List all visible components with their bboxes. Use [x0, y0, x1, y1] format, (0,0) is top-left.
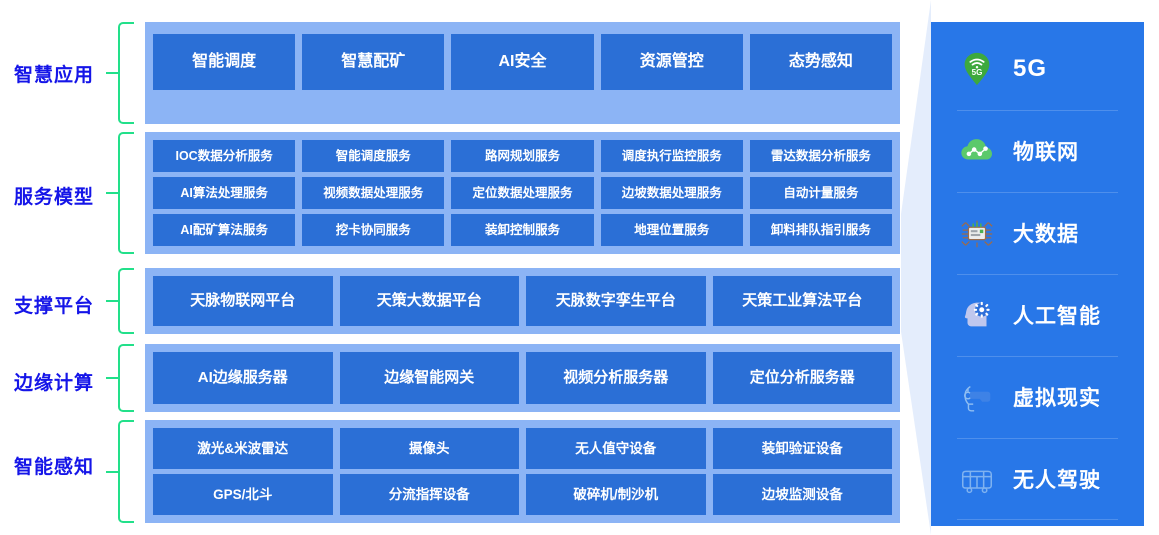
layer-band-edge-computing: AI边缘服务器 边缘智能网关 视频分析服务器 定位分析服务器: [145, 344, 900, 412]
layer-row: IOC数据分析服务 智能调度服务 路网规划服务 调度执行监控服务 雷达数据分析服…: [153, 140, 892, 172]
node-card[interactable]: 分流指挥设备: [340, 474, 520, 515]
node-card[interactable]: 装卸验证设备: [713, 428, 893, 469]
node-card[interactable]: 视频分析服务器: [526, 352, 706, 404]
bracket-tick: [106, 471, 120, 473]
sidebar-item-label: 大数据: [1013, 218, 1079, 248]
node-card[interactable]: AI安全: [451, 34, 593, 90]
node-card[interactable]: 天策工业算法平台: [713, 276, 893, 326]
node-card[interactable]: 雷达数据分析服务: [750, 140, 892, 172]
node-card[interactable]: 天脉数字孪生平台: [526, 276, 706, 326]
bracket-support-platform: [118, 268, 134, 334]
node-card[interactable]: 视频数据处理服务: [302, 177, 444, 209]
node-card[interactable]: 卸料排队指引服务: [750, 214, 892, 246]
bracket-tick: [106, 72, 120, 74]
technology-sidebar: 5G 5G 物联网: [931, 22, 1144, 526]
node-card[interactable]: 定位分析服务器: [713, 352, 893, 404]
layer-row: AI算法处理服务 视频数据处理服务 定位数据处理服务 边坡数据处理服务 自动计量…: [153, 177, 892, 209]
layer-label-edge-computing: 边缘计算: [0, 368, 108, 395]
5g-pin-icon: 5G: [957, 49, 997, 89]
node-card[interactable]: 资源管控: [601, 34, 743, 90]
iot-cloud-icon: [957, 131, 997, 171]
layer-band-support-platform: 天脉物联网平台 天策大数据平台 天脉数字孪生平台 天策工业算法平台: [145, 268, 900, 334]
bracket-tick: [106, 300, 120, 302]
node-card[interactable]: 智能调度服务: [302, 140, 444, 172]
sidebar-item-big-data[interactable]: 大数据: [931, 192, 1144, 274]
sidebar-item-label: 无人驾驶: [1013, 464, 1101, 494]
bracket-edge-computing: [118, 344, 134, 412]
node-card[interactable]: 边缘智能网关: [340, 352, 520, 404]
node-card[interactable]: 智慧配矿: [302, 34, 444, 90]
node-card[interactable]: 调度执行监控服务: [601, 140, 743, 172]
bracket-service-model: [118, 132, 134, 254]
sidebar-item-label: 5G: [1013, 55, 1047, 83]
layer-row: 激光&米波雷达 摄像头 无人值守设备 装卸验证设备: [153, 428, 892, 469]
sidebar-item-label: 人工智能: [1013, 300, 1101, 330]
node-card[interactable]: 边坡数据处理服务: [601, 177, 743, 209]
node-card[interactable]: 破碎机/制沙机: [526, 474, 706, 515]
node-card[interactable]: 自动计量服务: [750, 177, 892, 209]
node-card[interactable]: 路网规划服务: [451, 140, 593, 172]
sidebar-item-label: 物联网: [1013, 136, 1079, 166]
layer-band-service-model: IOC数据分析服务 智能调度服务 路网规划服务 调度执行监控服务 雷达数据分析服…: [145, 132, 900, 254]
node-card[interactable]: 边坡监测设备: [713, 474, 893, 515]
ai-brain-gear-icon: [957, 295, 997, 335]
svg-text:5G: 5G: [972, 68, 983, 77]
sidebar-item-ai[interactable]: 人工智能: [931, 274, 1144, 356]
sidebar-item-iot[interactable]: 物联网: [931, 110, 1144, 192]
node-card[interactable]: IOC数据分析服务: [153, 140, 295, 172]
node-card[interactable]: 摄像头: [340, 428, 520, 469]
layer-band-smart-sensing: 激光&米波雷达 摄像头 无人值守设备 装卸验证设备 GPS/北斗 分流指挥设备 …: [145, 420, 900, 523]
node-card[interactable]: 无人值守设备: [526, 428, 706, 469]
autonomous-bus-icon: [957, 459, 997, 499]
layer-row: AI边缘服务器 边缘智能网关 视频分析服务器 定位分析服务器: [153, 352, 892, 404]
big-data-chip-icon: [957, 213, 997, 253]
node-card[interactable]: AI配矿算法服务: [153, 214, 295, 246]
layer-label-support-platform: 支撑平台: [0, 291, 108, 318]
layer-row: 智能调度 智慧配矿 AI安全 资源管控 态势感知: [153, 34, 892, 90]
node-card[interactable]: 挖卡协同服务: [302, 214, 444, 246]
bracket-smart-application: [118, 22, 134, 124]
node-card[interactable]: 定位数据处理服务: [451, 177, 593, 209]
sidebar-item-vr[interactable]: 虚拟现实: [931, 356, 1144, 438]
node-card[interactable]: 态势感知: [750, 34, 892, 90]
node-card[interactable]: 天脉物联网平台: [153, 276, 333, 326]
sidebar-item-autonomous-driving[interactable]: 无人驾驶: [931, 438, 1144, 520]
node-card[interactable]: AI边缘服务器: [153, 352, 333, 404]
connector-wedge: [901, 0, 931, 535]
node-card[interactable]: 智能调度: [153, 34, 295, 90]
layer-row: 天脉物联网平台 天策大数据平台 天脉数字孪生平台 天策工业算法平台: [153, 276, 892, 326]
node-card[interactable]: AI算法处理服务: [153, 177, 295, 209]
sidebar-item-label: 虚拟现实: [1013, 382, 1101, 412]
layer-row: AI配矿算法服务 挖卡协同服务 装卸控制服务 地理位置服务 卸料排队指引服务: [153, 214, 892, 246]
layer-label-service-model: 服务模型: [0, 182, 108, 209]
sidebar-item-5g[interactable]: 5G 5G: [931, 28, 1144, 110]
layer-label-smart-sensing: 智能感知: [0, 452, 108, 479]
layer-band-smart-application: 智能调度 智慧配矿 AI安全 资源管控 态势感知: [145, 22, 900, 124]
node-card[interactable]: 地理位置服务: [601, 214, 743, 246]
layer-label-smart-application: 智慧应用: [0, 60, 108, 87]
node-card[interactable]: 激光&米波雷达: [153, 428, 333, 469]
architecture-diagram: 智慧应用 服务模型 支撑平台 边缘计算 智能感知 智能调度 智慧配矿 AI安全 …: [0, 0, 1159, 535]
bracket-tick: [106, 192, 120, 194]
node-card[interactable]: 天策大数据平台: [340, 276, 520, 326]
layer-row: GPS/北斗 分流指挥设备 破碎机/制沙机 边坡监测设备: [153, 474, 892, 515]
bracket-smart-sensing: [118, 420, 134, 523]
vr-headset-icon: [957, 377, 997, 417]
bracket-tick: [106, 377, 120, 379]
node-card[interactable]: GPS/北斗: [153, 474, 333, 515]
node-card[interactable]: 装卸控制服务: [451, 214, 593, 246]
